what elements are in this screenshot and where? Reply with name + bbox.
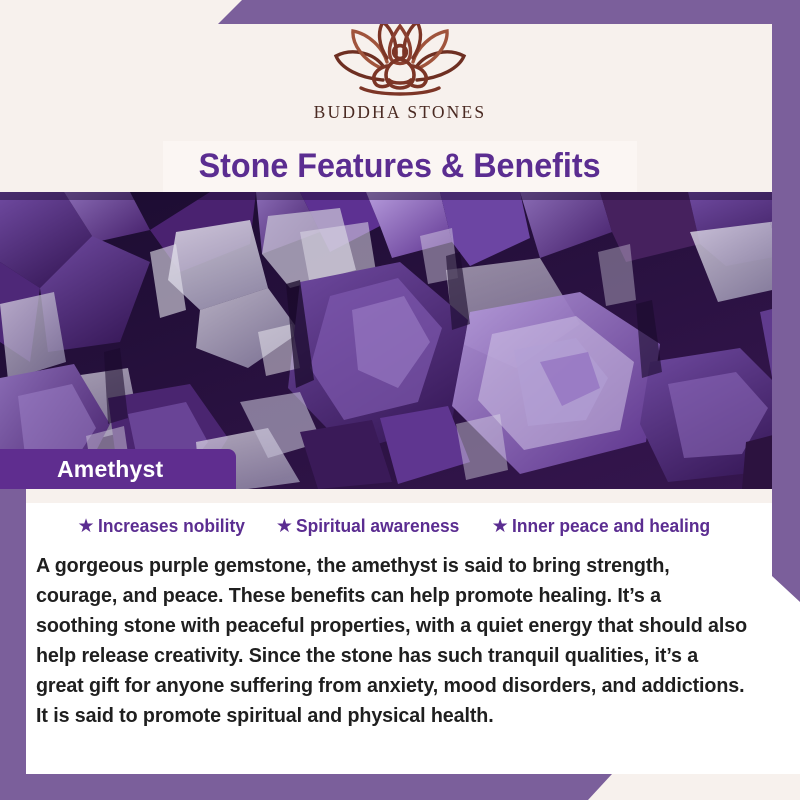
page-title-band: Stone Features & Benefits (163, 141, 637, 192)
stone-name-banner: Amethyst (0, 449, 236, 489)
description-paragraph: A gorgeous purple gemstone, the amethyst… (36, 551, 748, 731)
feature-list: ★ Increases nobility ★ Spiritual awarene… (0, 515, 800, 537)
amethyst-hero-image (0, 192, 800, 489)
feature-label: Increases nobility (98, 515, 245, 537)
star-icon: ★ (492, 517, 509, 536)
amethyst-crystal-illustration (0, 192, 800, 489)
product-info-card: BUDDHA STONES Stone Features & Benefits … (0, 0, 800, 800)
brand-name: BUDDHA STONES (314, 102, 487, 123)
frame-bottom-bar (0, 774, 612, 800)
star-icon: ★ (78, 517, 95, 536)
feature-item-1: ★ Increases nobility (78, 515, 254, 537)
stone-name: Amethyst (57, 456, 163, 483)
frame-left-bar (0, 489, 26, 800)
frame-right-bar (772, 0, 800, 602)
frame-top-bar (218, 0, 800, 24)
page-title: Stone Features & Benefits (199, 147, 601, 186)
feature-label: Spiritual awareness (296, 515, 459, 537)
feature-item-3: ★ Inner peace and healing (492, 515, 723, 537)
star-icon: ★ (276, 517, 293, 536)
body-top-strip (0, 489, 800, 503)
card-body: ★ Increases nobility ★ Spiritual awarene… (0, 489, 800, 800)
lotus-meditation-figure-icon (325, 18, 475, 100)
feature-item-2: ★ Spiritual awareness (276, 515, 470, 537)
feature-label: Inner peace and healing (512, 515, 710, 537)
brand-logo: BUDDHA STONES (0, 18, 800, 123)
